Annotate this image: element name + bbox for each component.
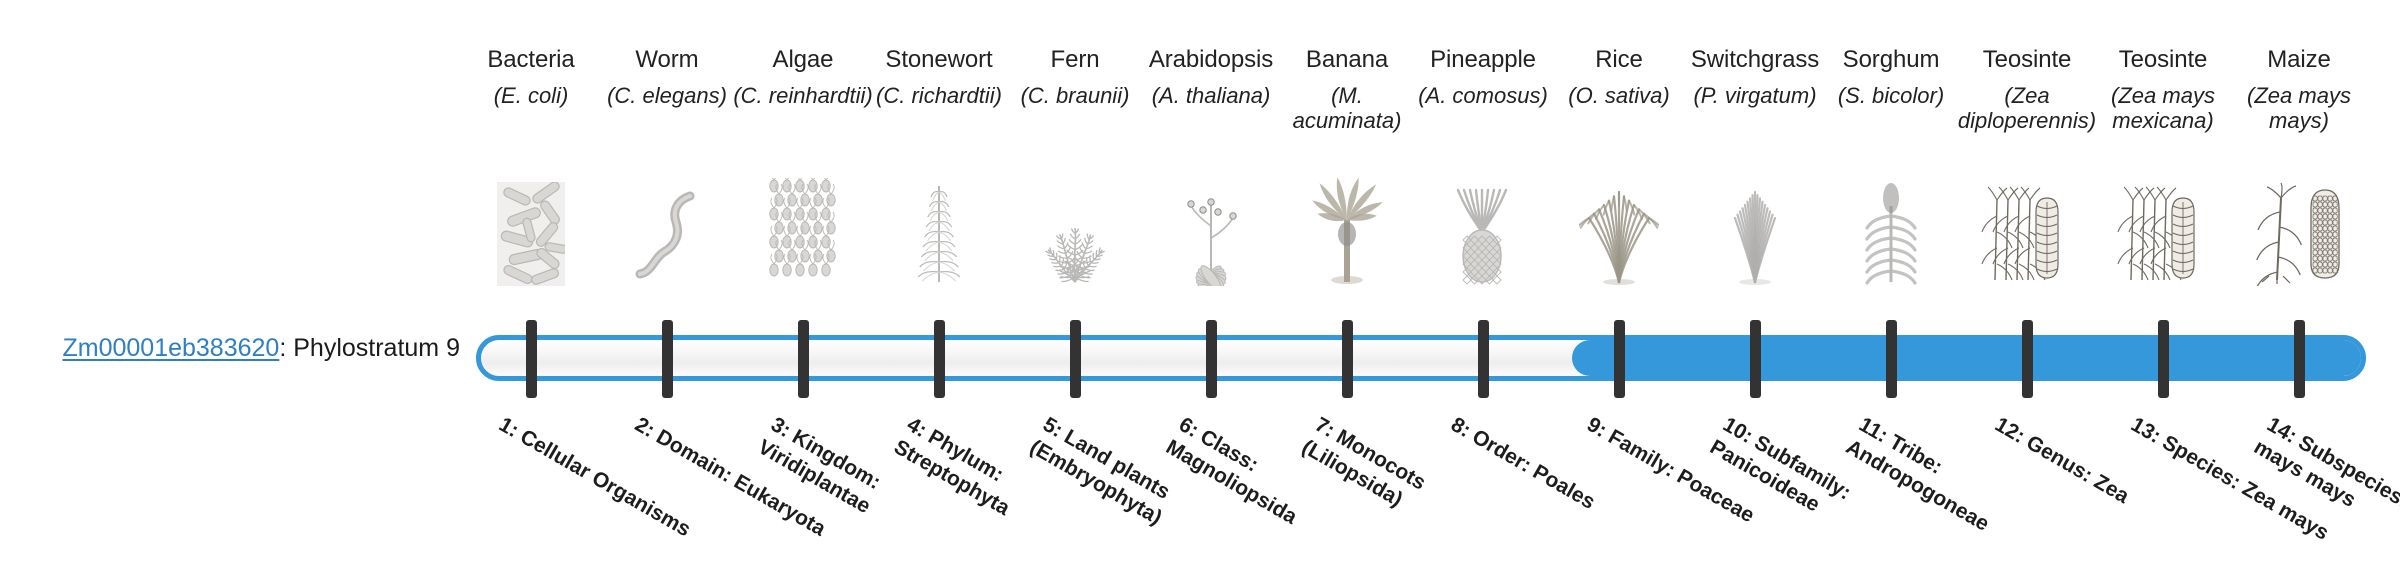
species-common-name: Algae — [733, 46, 873, 74]
banana-palm-icon — [1277, 168, 1417, 286]
species-header-1: Bacteria(E. coli) — [461, 46, 601, 108]
gene-id-link[interactable]: Zm00001eb383620 — [62, 334, 279, 362]
species-header-7: Banana(M. acuminata) — [1277, 46, 1417, 134]
stratum-tick-7[interactable] — [1342, 320, 1353, 398]
species-common-name: Arabidopsis — [1141, 46, 1281, 74]
stratum-tick-2[interactable] — [662, 320, 673, 398]
species-latin-name: (C. elegans) — [597, 83, 737, 109]
species-header-13: Teosinte(Zea mays mexicana) — [2093, 46, 2233, 134]
species-header-10: Switchgrass(P. virgatum) — [1685, 46, 1825, 108]
species-latin-name: (Zea mays mays) — [2229, 83, 2369, 134]
fern-frond-icon — [1005, 168, 1145, 286]
species-latin-name: (A. thaliana) — [1141, 83, 1281, 109]
stratum-tick-6[interactable] — [1206, 320, 1217, 398]
stratum-tick-5[interactable] — [1070, 320, 1081, 398]
teosinte-plant-ear-icon — [1957, 168, 2097, 286]
phylostratum-bar-fill — [1572, 340, 2366, 376]
species-common-name: Stonewort — [869, 46, 1009, 74]
stratum-tick-14[interactable] — [2294, 320, 2305, 398]
species-common-name: Pineapple — [1413, 46, 1553, 74]
stonewort-alga-icon — [869, 168, 1009, 286]
sorghum-plant-icon — [1821, 168, 1961, 286]
species-latin-name: (Zea diploperennis) — [1957, 83, 2097, 134]
stratum-tick-8[interactable] — [1478, 320, 1489, 398]
stratum-tick-9[interactable] — [1614, 320, 1625, 398]
arabidopsis-rosette-icon — [1141, 168, 1281, 286]
species-header-11: Sorghum(S. bicolor) — [1821, 46, 1961, 108]
stratum-tick-12[interactable] — [2022, 320, 2033, 398]
species-latin-name: (M. acuminata) — [1277, 83, 1417, 134]
species-common-name: Worm — [597, 46, 737, 74]
pineapple-plant-icon — [1413, 168, 1553, 286]
species-header-2: Worm(C. elegans) — [597, 46, 737, 108]
gene-phylostratum-label: Zm00001eb383620: Phylostratum 9 — [40, 335, 460, 363]
species-common-name: Teosinte — [1957, 46, 2097, 74]
phylostratum-bar-track[interactable] — [476, 335, 2366, 381]
species-header-14: Maize(Zea mays mays) — [2229, 46, 2369, 134]
teosinte-plant-ear-icon — [2093, 168, 2233, 286]
gene-label-separator: : — [279, 334, 293, 362]
species-common-name: Rice — [1549, 46, 1689, 74]
stratum-tick-11[interactable] — [1886, 320, 1897, 398]
stratum-tick-10[interactable] — [1750, 320, 1761, 398]
switchgrass-plant-icon — [1685, 168, 1825, 286]
species-common-name: Maize — [2229, 46, 2369, 74]
species-header-4: Stonewort(C. richardtii) — [869, 46, 1009, 108]
species-latin-name: (O. sativa) — [1549, 83, 1689, 109]
species-latin-name: (E. coli) — [461, 83, 601, 109]
green-algae-cells-icon — [733, 168, 873, 286]
species-common-name: Fern — [1005, 46, 1145, 74]
maize-plant-cob-icon — [2229, 168, 2369, 286]
species-header-3: Algae(C. reinhardtii) — [733, 46, 873, 108]
species-header-6: Arabidopsis(A. thaliana) — [1141, 46, 1281, 108]
bacteria-rods-icon — [461, 168, 601, 286]
stratum-tick-3[interactable] — [798, 320, 809, 398]
species-header-12: Teosinte(Zea diploperennis) — [1957, 46, 2097, 134]
species-latin-name: (P. virgatum) — [1685, 83, 1825, 109]
species-common-name: Bacteria — [461, 46, 601, 74]
stratum-tick-13[interactable] — [2158, 320, 2169, 398]
stratum-tick-4[interactable] — [934, 320, 945, 398]
species-latin-name: (C. braunii) — [1005, 83, 1145, 109]
stratum-tick-1[interactable] — [526, 320, 537, 398]
species-common-name: Teosinte — [2093, 46, 2233, 74]
species-common-name: Sorghum — [1821, 46, 1961, 74]
species-latin-name: (C. richardtii) — [869, 83, 1009, 109]
species-header-5: Fern(C. braunii) — [1005, 46, 1145, 108]
species-latin-name: (C. reinhardtii) — [733, 83, 873, 109]
species-header-8: Pineapple(A. comosus) — [1413, 46, 1553, 108]
species-latin-name: (S. bicolor) — [1821, 83, 1961, 109]
species-latin-name: (Zea mays mexicana) — [2093, 83, 2233, 134]
species-header-9: Rice(O. sativa) — [1549, 46, 1689, 108]
phylostratum-timeline: Zm00001eb383620: Phylostratum 9 Bacteria… — [0, 0, 2400, 580]
species-common-name: Switchgrass — [1685, 46, 1825, 74]
rice-plant-icon — [1549, 168, 1689, 286]
species-common-name: Banana — [1277, 46, 1417, 74]
phylostratum-value-text: Phylostratum 9 — [293, 334, 460, 362]
nematode-worm-icon — [597, 168, 737, 286]
species-latin-name: (A. comosus) — [1413, 83, 1553, 109]
